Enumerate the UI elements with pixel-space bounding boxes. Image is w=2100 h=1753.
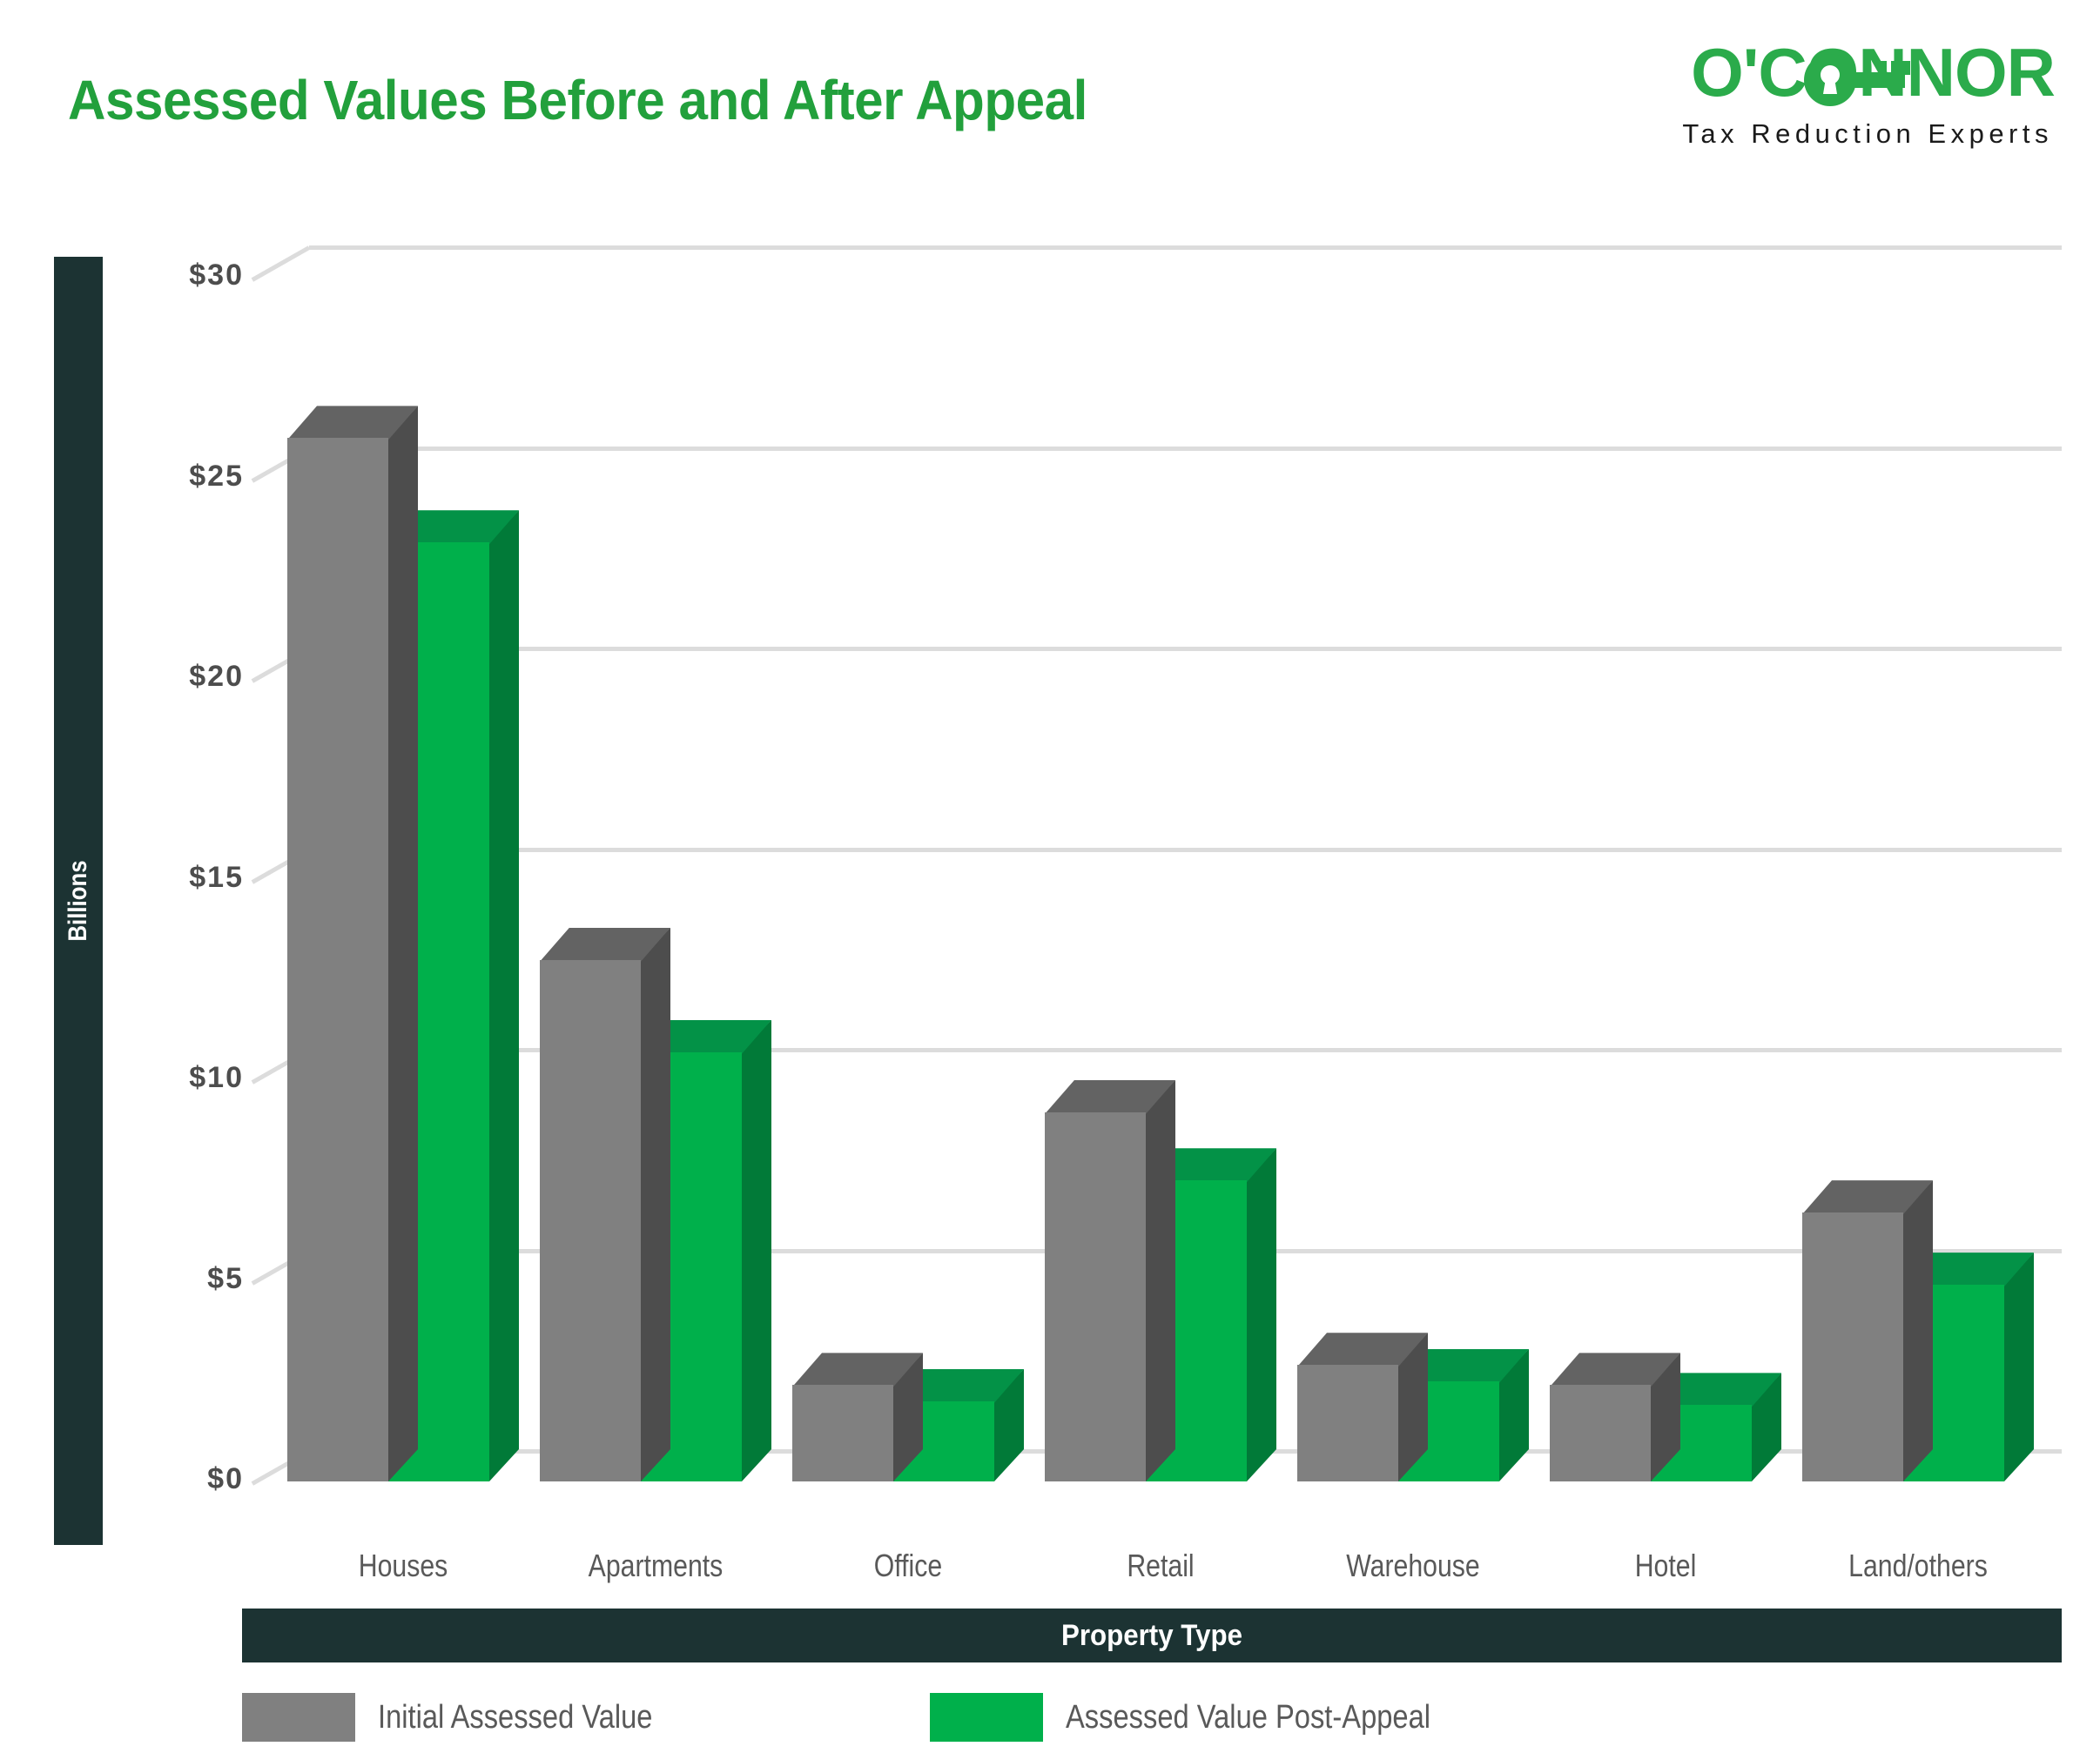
chart-page: Assessed Values Before and After Appeal …	[0, 0, 2100, 1753]
legend-item[interactable]: Assessed Value Post-Appeal	[930, 1690, 1490, 1744]
gridline-depth-edge	[252, 245, 310, 281]
bar-initial[interactable]	[287, 406, 418, 1481]
bar-front-face	[1045, 1112, 1146, 1481]
bar-side-face	[1247, 1148, 1276, 1481]
y-axis-tick-label: $30	[131, 259, 244, 292]
bar-side-face	[1903, 1180, 1933, 1481]
bar-side-face	[2004, 1253, 2034, 1481]
bar-initial[interactable]	[1045, 1080, 1175, 1481]
y-axis-tick-label: $20	[131, 660, 244, 694]
bar-side-face	[489, 510, 519, 1481]
gridline	[309, 447, 2062, 451]
bar-front-face	[1297, 1365, 1398, 1481]
y-axis-tick-label: $5	[131, 1262, 244, 1296]
x-axis-bar	[242, 1609, 2062, 1662]
bar-side-face	[1146, 1080, 1175, 1481]
bar-initial[interactable]	[792, 1353, 923, 1481]
bar-side-face	[641, 928, 670, 1481]
gridline	[309, 848, 2062, 852]
legend-label: Assessed Value Post-Appeal	[1066, 1699, 1430, 1736]
bar-front-face	[1550, 1385, 1651, 1481]
y-axis-tick-label: $0	[131, 1462, 244, 1496]
y-axis-tick-label: $25	[131, 460, 244, 494]
y-axis-tick-label: $15	[131, 861, 244, 895]
y-axis-tick-label: $10	[131, 1061, 244, 1095]
bar-initial[interactable]	[540, 928, 670, 1481]
bar-initial[interactable]	[1802, 1180, 1933, 1481]
legend-swatch	[242, 1693, 355, 1742]
bar-front-face	[1802, 1212, 1903, 1481]
plot-area: $0$5$10$15$20$25$30HousesApartmentsOffic…	[0, 0, 2100, 1753]
bar-side-face	[742, 1020, 771, 1481]
x-axis-tick-label: Land/others	[1762, 1548, 2074, 1584]
legend-swatch	[930, 1693, 1043, 1742]
bar-side-face	[388, 406, 418, 1481]
bar-initial[interactable]	[1297, 1333, 1428, 1481]
bar-front-face	[540, 960, 641, 1481]
gridline	[309, 245, 2062, 250]
legend-item[interactable]: Initial Assessed Value	[242, 1690, 697, 1744]
gridline	[309, 647, 2062, 651]
bar-initial[interactable]	[1550, 1353, 1680, 1481]
legend-label: Initial Assessed Value	[378, 1699, 652, 1736]
bar-front-face	[792, 1385, 893, 1481]
bar-front-face	[287, 438, 388, 1481]
